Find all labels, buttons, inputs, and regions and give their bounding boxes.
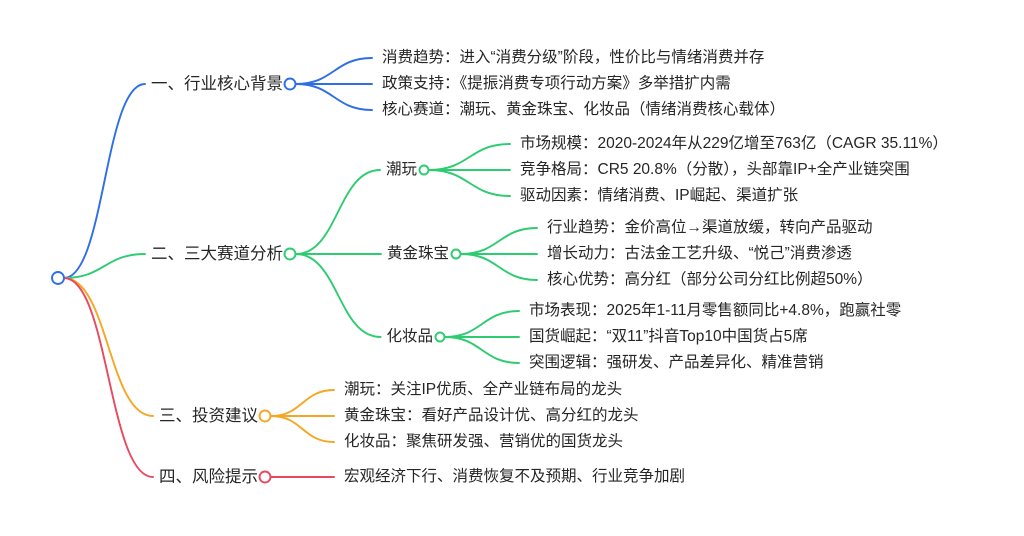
node-label-branch-4[interactable]: 四、风险提示 [159,467,258,487]
mindmap-canvas: 一、行业核心背景消费趋势：进入“消费分级”阶段，性价比与情绪消费并存政策支持：《… [0,0,1024,536]
edge-branch-3-to-b3-c3 [271,416,334,442]
edge-branch-1-to-b1-c1 [296,58,372,84]
edge-b2-c2-to-b2-c2-g1 [461,228,537,254]
edge-root-to-branch-2 [64,254,145,278]
node-dot-branch-2[interactable] [285,249,296,260]
node-label-b2-c1-g1[interactable]: 市场规模：2020-2024年从229亿增至763亿（CAGR 35.11%） [520,134,948,154]
edge-branch-1-to-b1-c3 [296,84,372,110]
node-dot-branch-3[interactable] [260,411,271,422]
node-dot-b2-c1[interactable] [420,166,429,175]
node-label-b3-c1[interactable]: 潮玩：关注IP优质、全产业链布局的龙头 [344,380,622,400]
edge-root-to-branch-3 [64,278,153,416]
node-label-b1-c3[interactable]: 核心赛道：潮玩、黄金珠宝、化妆品（情绪消费核心载体） [382,100,785,120]
node-label-b2-c1-g2[interactable]: 竞争格局：CR5 20.8%（分散），头部靠IP+全产业链突围 [520,160,910,180]
node-label-b3-c2[interactable]: 黄金珠宝：看好产品设计优、高分红的龙头 [344,406,639,426]
node-label-branch-2[interactable]: 二、三大赛道分析 [151,244,283,264]
node-label-b2-c3[interactable]: 化妆品 [386,327,433,347]
node-label-b2-c2-g1[interactable]: 行业趋势：金价高位→渠道放缓，转向产品驱动 [547,218,873,238]
edge-root-to-branch-1 [64,84,145,278]
node-label-b2-c2[interactable]: 黄金珠宝 [387,244,449,264]
edge-root-to-branch-4 [64,278,153,477]
node-label-b1-c2[interactable]: 政策支持：《提振消费专项行动方案》多举措扩内需 [382,74,731,94]
node-dot-b2-c3[interactable] [436,333,445,342]
node-dot-root[interactable] [52,272,64,284]
edge-b2-c3-to-b2-c3-g3 [445,337,519,363]
node-label-branch-3[interactable]: 三、投资建议 [159,406,258,426]
node-dot-b2-c2[interactable] [452,250,461,259]
edge-branch-2-to-b2-c3 [296,254,381,337]
edge-b2-c2-to-b2-c2-g3 [461,254,537,280]
node-dot-branch-1[interactable] [285,79,296,90]
node-label-branch-1[interactable]: 一、行业核心背景 [151,74,283,94]
node-label-b2-c1[interactable]: 潮玩 [386,160,417,180]
node-label-b3-c3[interactable]: 化妆品：聚焦研发强、营销优的国货龙头 [344,432,623,452]
node-label-b2-c1-g3[interactable]: 驱动因素：情绪消费、IP崛起、渠道扩张 [520,186,798,206]
node-dot-branch-4[interactable] [260,472,271,483]
node-label-b2-c2-g3[interactable]: 核心优势：高分红（部分公司分红比例超50%） [547,270,873,290]
edge-b2-c1-to-b2-c1-g1 [429,144,510,170]
node-label-b2-c3-g2[interactable]: 国货崛起：“双11”抖音Top10中国货占5席 [529,327,808,347]
edge-branch-2-to-b2-c1 [296,170,380,254]
edge-branch-3-to-b3-c1 [271,390,334,416]
edge-b2-c1-to-b2-c1-g3 [429,170,510,196]
node-label-b2-c3-g1[interactable]: 市场表现：2025年1-11月零售额同比+4.8%，跑赢社零 [529,301,901,321]
node-label-b2-c3-g3[interactable]: 突围逻辑：强研发、产品差异化、精准营销 [529,353,824,373]
edge-b2-c3-to-b2-c3-g1 [445,311,519,337]
node-label-b1-c1[interactable]: 消费趋势：进入“消费分级”阶段，性价比与情绪消费并存 [382,48,764,68]
node-label-b4-c1[interactable]: 宏观经济下行、消费恢复不及预期、行业竞争加剧 [344,467,685,487]
node-label-b2-c2-g2[interactable]: 增长动力：古法金工艺升级、“悦己”消费渗透 [547,244,852,264]
